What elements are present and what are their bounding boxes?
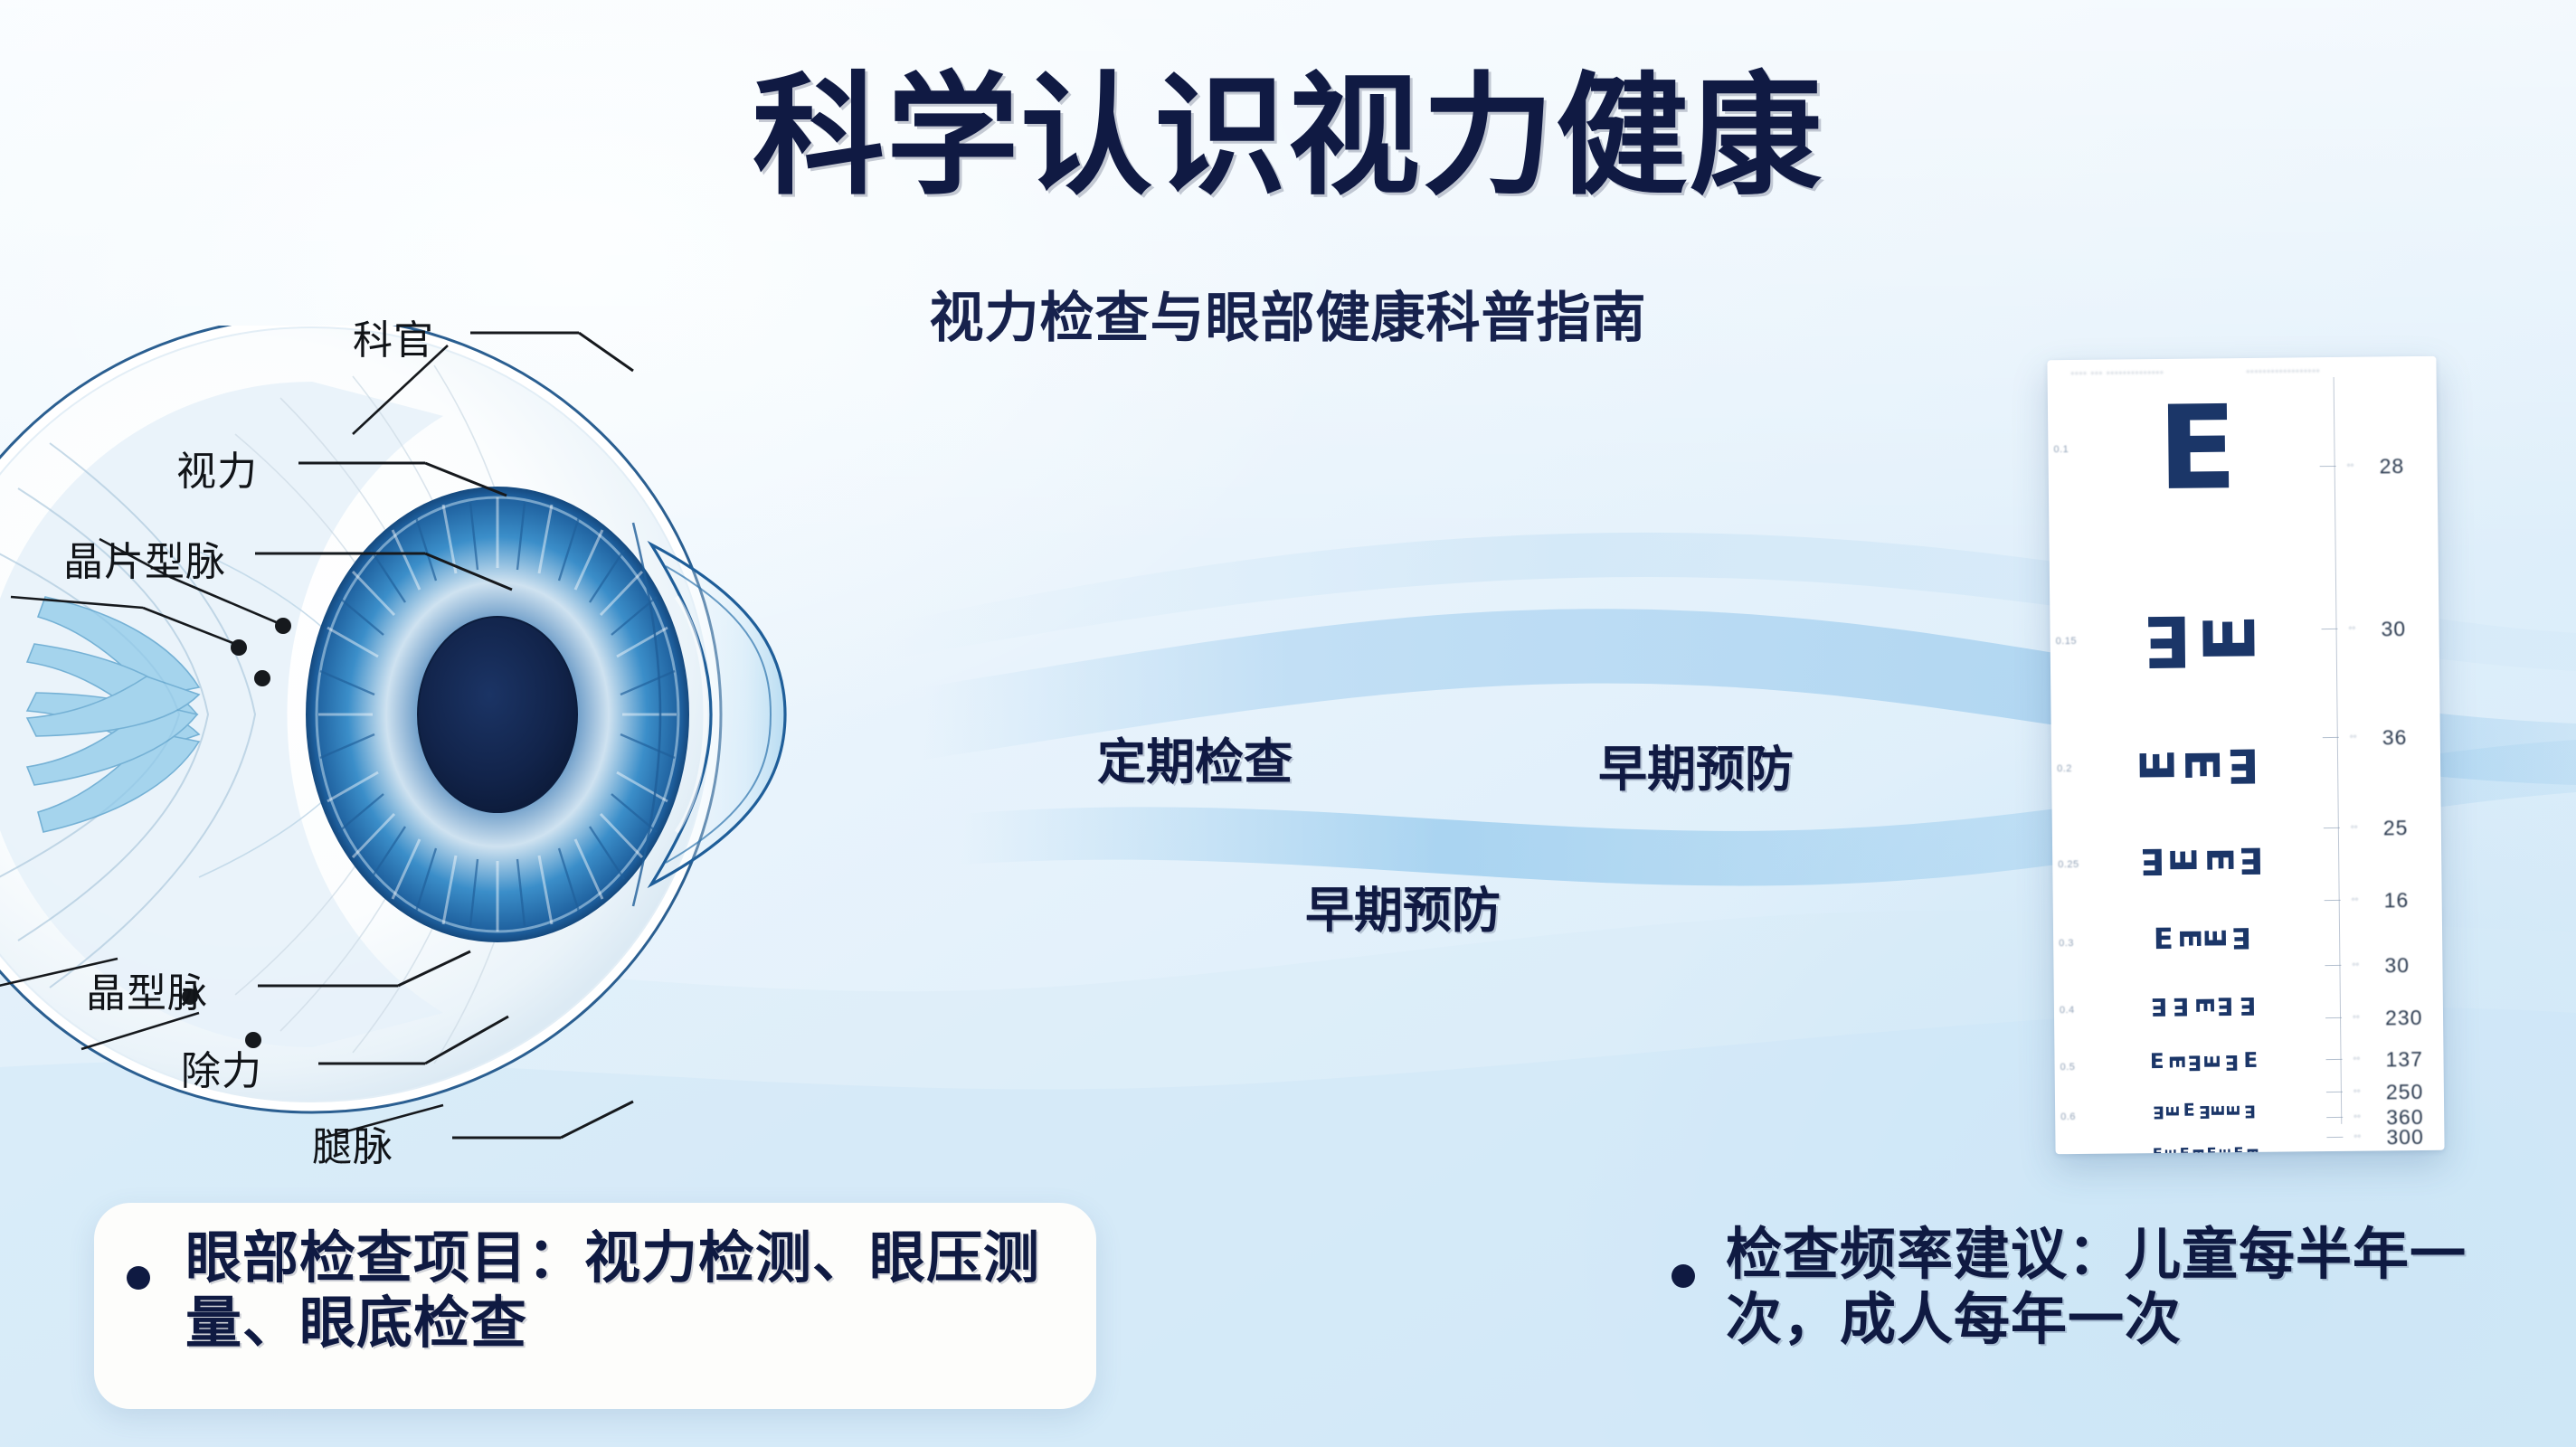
iris-pupil <box>306 487 689 942</box>
chart-row: EEEEE <box>2090 994 2316 1017</box>
chart-distance-number: 25 <box>2383 816 2409 840</box>
optotype-e-icon: E <box>2187 1054 2202 1071</box>
chart-row: EE <box>2086 609 2313 669</box>
chart-tick <box>2322 629 2338 629</box>
chart-row: E <box>2084 401 2311 498</box>
chart-distance-number: 300 <box>2386 1125 2424 1149</box>
flow-label-zaoqi-yufang-1: 早期预防 <box>1598 729 1794 800</box>
optotype-e-icon: E <box>2140 846 2165 875</box>
callout-label-keguan: 科官 <box>353 307 434 365</box>
optotype-e-icon: E <box>2165 1149 2177 1154</box>
chart-tick <box>2323 737 2339 738</box>
chart-divider <box>2334 377 2343 1124</box>
chart-row: EEEE <box>2088 844 2315 875</box>
optotype-e-icon: E <box>2157 402 2238 497</box>
optotype-e-icon: E <box>2154 927 2173 950</box>
optotype-e-icon: E <box>2203 928 2227 948</box>
optotype-e-icon: E <box>2239 845 2264 875</box>
chart-distance-number: 36 <box>2382 725 2408 750</box>
bullet-text-exam-items: 眼部检查项目：视力检测、眼压测量、眼底检查 <box>185 1226 1090 1357</box>
optotype-e-icon: E <box>2183 1104 2195 1119</box>
optotype-e-icon: E <box>2217 995 2234 1015</box>
callout-label-tuimai: 腿脉 <box>312 1114 393 1172</box>
optotype-e-icon: E <box>2167 1055 2184 1069</box>
chart-acuity-label: 0.8 <box>2061 1154 2077 1155</box>
chart-tick <box>2325 965 2341 966</box>
optotype-e-icon: E <box>2151 996 2168 1016</box>
chart-acuity-label: 0.3 <box>2059 938 2074 949</box>
chart-tick <box>2324 828 2340 828</box>
optotype-e-icon: E <box>2180 1148 2190 1155</box>
chart-tick-label: ◦◦ <box>2353 1054 2360 1064</box>
optotype-e-icon: E <box>2203 847 2233 873</box>
chart-distance-number: 250 <box>2386 1080 2424 1104</box>
optotype-e-icon: E <box>2207 1147 2217 1154</box>
chart-tick-label: ◦◦ <box>2353 1086 2361 1097</box>
chart-tick <box>2326 1059 2343 1060</box>
eye-chart-card: ◦◦◦◦ ◦◦◦ ◦◦◦◦◦◦◦◦◦◦◦◦◦◦ ◦◦◦◦◦◦◦◦◦◦◦◦◦◦◦◦… <box>2047 356 2444 1154</box>
chart-row: EEEEEEE <box>2091 1102 2317 1119</box>
chart-acuity-label: 0.25 <box>2058 859 2079 870</box>
chart-distance-number: 16 <box>2384 888 2410 913</box>
page-title: 科学认识视力健康 <box>0 71 2576 203</box>
callout-label-chuli: 除力 <box>181 1038 262 1096</box>
optotype-e-icon: E <box>2171 847 2201 873</box>
chart-tick <box>2326 1092 2343 1092</box>
optotype-e-icon: E <box>2225 1053 2240 1070</box>
optotype-e-icon: E <box>2233 1147 2243 1154</box>
chart-tick-label: ◦◦ <box>2350 732 2357 742</box>
optotype-e-icon: E <box>2144 610 2192 669</box>
optotype-e-icon: E <box>2166 1105 2181 1117</box>
optotype-e-icon: E <box>2239 995 2256 1015</box>
callout-label-shili: 视力 <box>176 439 258 497</box>
optotype-e-icon: E <box>2139 749 2178 781</box>
optotype-e-icon: E <box>2219 1148 2230 1154</box>
eye-chart-content: ◦◦◦◦ ◦◦◦ ◦◦◦◦◦◦◦◦◦◦◦◦◦◦ ◦◦◦◦◦◦◦◦◦◦◦◦◦◦◦◦… <box>2047 356 2444 1154</box>
chart-tick-label: ◦◦ <box>2347 460 2354 471</box>
chart-tick <box>2320 466 2336 467</box>
eye-anatomy-illustration <box>0 326 1022 1212</box>
chart-tick-label: ◦◦ <box>2353 1111 2361 1122</box>
optotype-e-icon: E <box>2246 1148 2258 1154</box>
chart-distance-number: 30 <box>2384 953 2410 978</box>
chart-tick-label: ◦◦ <box>2352 894 2359 905</box>
optotype-e-icon: E <box>2153 1104 2164 1119</box>
optotype-e-icon: E <box>2182 749 2221 781</box>
optotype-e-icon: E <box>2227 745 2259 784</box>
callout-label-jingpian: 晶片型脉 <box>63 529 226 587</box>
chart-row: EEEEEEEE <box>2092 1146 2318 1154</box>
optotype-e-icon: E <box>2231 926 2251 950</box>
chart-distance-number: 137 <box>2385 1047 2423 1072</box>
chart-tick-label: ◦◦ <box>2353 1012 2360 1023</box>
chart-acuity-label: 0.6 <box>2060 1111 2076 1122</box>
chart-header-text-right: ◦◦◦◦◦◦◦◦◦◦◦◦◦◦◦◦◦◦ <box>2247 366 2321 377</box>
chart-tick-label: ◦◦ <box>2351 822 2358 833</box>
chart-tick <box>2325 900 2341 901</box>
chart-header-text-left: ◦◦◦◦ ◦◦◦ ◦◦◦◦◦◦◦◦◦◦◦◦◦◦ <box>2071 368 2164 379</box>
chart-row: EEE <box>2088 744 2314 785</box>
bullet-text-exam-frequency: 检查频率建议：儿童每半年一次，成人每年一次 <box>1726 1223 2567 1353</box>
optotype-e-icon: E <box>2204 1055 2221 1069</box>
chart-acuity-label: 0.4 <box>2060 1005 2075 1016</box>
chart-row: EEEE <box>2089 925 2316 951</box>
bullet-marker-exam-frequency <box>1672 1264 1695 1288</box>
optotype-e-icon: E <box>2244 1103 2256 1118</box>
chart-acuity-label: 0.1 <box>2053 444 2069 455</box>
chart-tick-label: ◦◦ <box>2348 623 2355 634</box>
chart-row: EEEEEE <box>2090 1052 2316 1071</box>
optotype-e-icon: E <box>2243 1053 2258 1070</box>
optotype-e-icon: E <box>2193 997 2213 1014</box>
chart-tick <box>2325 1017 2342 1018</box>
optotype-e-icon: E <box>2228 1104 2242 1116</box>
flow-label-dingqi-jiancha: 定期检查 <box>1097 722 1293 793</box>
chart-distance-number: 30 <box>2381 617 2406 641</box>
optotype-e-icon: E <box>2150 1054 2164 1071</box>
flow-label-zaoqi-yufang-2: 早期预防 <box>1305 870 1501 941</box>
chart-tick-label: ◦◦ <box>2353 1131 2361 1142</box>
callout-label-jingxing: 晶型脉 <box>86 960 208 1018</box>
optotype-e-icon: E <box>2173 996 2190 1016</box>
chart-distance-number: 28 <box>2380 454 2405 478</box>
chart-acuity-label: 0.2 <box>2057 763 2072 774</box>
optotype-e-icon: E <box>2202 614 2261 663</box>
poster-canvas: 科学认识视力健康 视力检查与眼部健康科普指南 科官 视力 晶片型脉 晶型脉 除力… <box>0 0 2576 1447</box>
chart-tick <box>2326 1117 2343 1118</box>
bullet-marker-exam-items <box>127 1266 150 1290</box>
chart-tick-label: ◦◦ <box>2352 960 2359 970</box>
optotype-e-icon: E <box>2153 1148 2163 1154</box>
chart-acuity-label: 0.5 <box>2060 1062 2076 1073</box>
chart-tick <box>2326 1137 2343 1138</box>
optotype-e-icon: E <box>2192 1149 2204 1155</box>
chart-distance-number: 230 <box>2385 1006 2423 1030</box>
chart-acuity-label: 0.15 <box>2056 636 2078 647</box>
